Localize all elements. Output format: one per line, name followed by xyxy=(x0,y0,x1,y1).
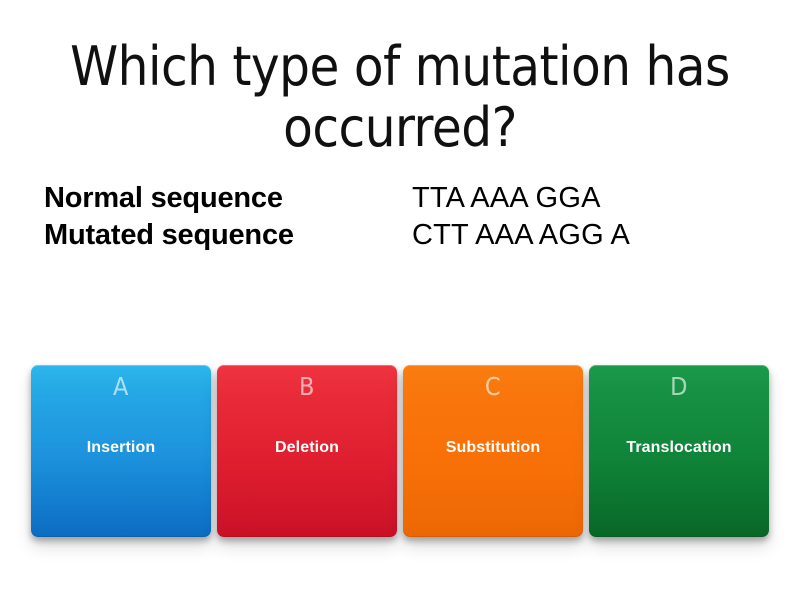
answer-letter-a: A xyxy=(113,373,129,401)
normal-sequence-label: Normal sequence xyxy=(44,180,412,217)
answer-letter-c: C xyxy=(485,373,501,401)
answer-letter-d: D xyxy=(670,373,688,401)
answer-text-b: Deletion xyxy=(217,439,397,457)
answer-option-b[interactable]: B Deletion xyxy=(217,365,397,537)
sequence-row-normal: Normal sequence TTA AAA GGA xyxy=(44,180,756,217)
answer-text-c: Substitution xyxy=(403,439,583,457)
answer-text-a: Insertion xyxy=(31,439,211,457)
quiz-slide: Which type of mutation has occurred? Nor… xyxy=(0,0,800,600)
mutated-sequence-value: CTT AAA AGG A xyxy=(412,217,630,254)
question-title: Which type of mutation has occurred? xyxy=(20,36,780,158)
answer-option-c[interactable]: C Substitution xyxy=(403,365,583,537)
answer-option-a[interactable]: A Insertion xyxy=(31,365,211,537)
answer-options: A Insertion B Deletion C Substitution D … xyxy=(31,365,769,537)
answer-letter-b: B xyxy=(299,373,315,401)
answer-text-d: Translocation xyxy=(589,439,769,457)
normal-sequence-value: TTA AAA GGA xyxy=(412,180,601,217)
sequence-row-mutated: Mutated sequence CTT AAA AGG A xyxy=(44,217,756,254)
answer-option-d[interactable]: D Translocation xyxy=(589,365,769,537)
sequence-comparison: Normal sequence TTA AAA GGA Mutated sequ… xyxy=(20,180,780,254)
mutated-sequence-label: Mutated sequence xyxy=(44,217,412,254)
